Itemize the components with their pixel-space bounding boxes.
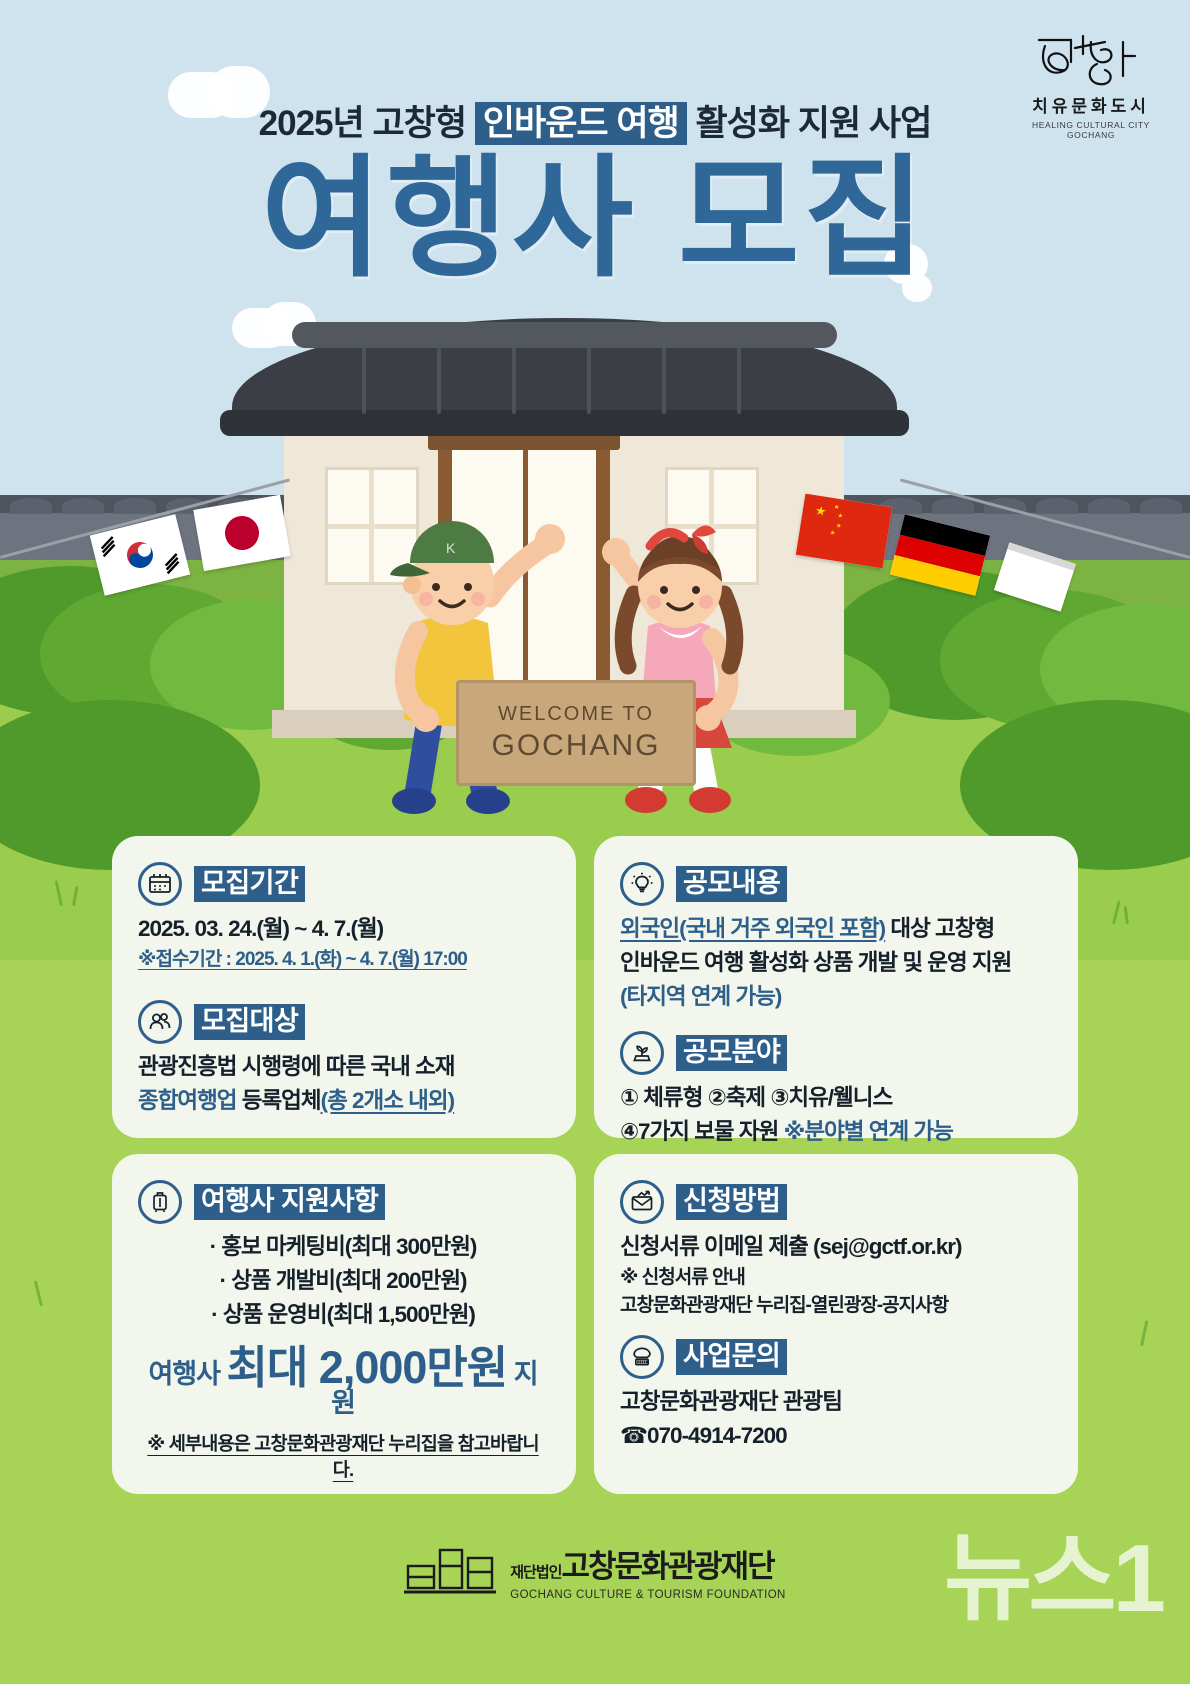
section-title-inquiry: 사업문의 xyxy=(676,1339,787,1375)
card-contest: 공모내용 외국인(국내 거주 외국인 포함) 대상 고창형 인바운드 여행 활성… xyxy=(594,836,1078,1138)
city-logo-english: HEALING CULTURAL CITY GOCHANG xyxy=(1016,120,1166,140)
support-item-0: · 홍보 마케팅비(최대 300만원) xyxy=(138,1230,548,1264)
welcome-sign-line2: GOCHANG xyxy=(491,729,660,763)
contest-content-line1-rest: 대상 고창형 xyxy=(885,916,994,941)
section-title-recruit-target: 모집대상 xyxy=(194,1004,305,1040)
subtitle-post: 활성화 지원 사업 xyxy=(687,104,932,143)
recruit-target-line2: 종합여행업 등록업체(총 2개소 내외) xyxy=(138,1084,548,1118)
foundation-name-line: 재단법인고창문화관광재단 xyxy=(510,1541,786,1586)
section-title-how-to-apply: 신청방법 xyxy=(676,1184,787,1220)
contest-content-line1: 외국인(국내 거주 외국인 포함) 대상 고창형 xyxy=(620,912,1050,946)
foundation-name-en: GOCHANG CULTURE & TOURISM FOUNDATION xyxy=(510,1589,786,1601)
recruit-target-line2-mid: 등록업체 xyxy=(237,1088,321,1113)
section-recruit-period: 모집기간 2025. 03. 24.(월) ~ 4. 7.(월) ※접수기간 :… xyxy=(138,862,548,974)
recruit-period-line2: ※접수기간 : 2025. 4. 1.(화) ~ 4. 7.(월) 17:00 xyxy=(138,946,548,975)
support-note: ※ 세부내용은 고창문화관광재단 누리집을 참고바랍니다. xyxy=(138,1430,548,1482)
recruit-target-line2-underline: (총 2개소 내외) xyxy=(321,1088,455,1113)
inquiry-line1: 고창문화관광재단 관광팀 xyxy=(620,1385,1050,1419)
contest-fields-line2-blue: ※분야별 연계 가능 xyxy=(784,1119,953,1144)
subtitle-highlight: 인바운드 여행 xyxy=(475,102,687,145)
city-brand-logo: 치유문화도시 HEALING CULTURAL CITY GOCHANG xyxy=(1016,28,1166,140)
support-item-2: · 상품 운영비(최대 1,500만원) xyxy=(138,1298,548,1332)
contest-content-line1-underline: 외국인(국내 거주 외국인 포함) xyxy=(620,916,885,941)
svg-text:K: K xyxy=(446,540,456,556)
foundation-text: 재단법인고창문화관광재단 GOCHANG CULTURE & TOURISM F… xyxy=(510,1541,786,1601)
city-logo-korean: 치유문화도시 xyxy=(1016,92,1166,117)
card-support: 여행사 지원사항 · 홍보 마케팅비(최대 300만원) · 상품 개발비(최대… xyxy=(112,1154,576,1494)
section-contest-content: 공모내용 외국인(국내 거주 외국인 포함) 대상 고창형 인바운드 여행 활성… xyxy=(620,862,1050,1013)
calendar-icon xyxy=(138,862,182,906)
suitcase-icon xyxy=(138,1180,182,1224)
foundation-name-small: 재단법인 xyxy=(510,1564,561,1581)
contest-content-line3: (타지역 연계 가능) xyxy=(620,980,1050,1014)
contest-content-line2: 인바운드 여행 활성화 상품 개발 및 운영 지원 xyxy=(620,946,1050,980)
section-title-contest-fields: 공모분야 xyxy=(676,1035,787,1071)
contest-fields-line2-black: ④7가지 보물 자원 xyxy=(620,1119,784,1144)
telephone-icon xyxy=(620,1335,664,1379)
contest-fields-line1: ① 체류형 ②축제 ③치유/웰니스 xyxy=(620,1081,1050,1115)
section-recruit-target: 모집대상 관광진흥법 시행령에 따른 국내 소재 종합여행업 등록업체(총 2개… xyxy=(138,1000,548,1118)
contest-fields-line2: ④7가지 보물 자원 ※분야별 연계 가능 xyxy=(620,1115,1050,1149)
recruit-target-line2-pre: 종합여행업 xyxy=(138,1088,237,1113)
gochang-script-logo-icon xyxy=(1031,28,1151,90)
inquiry-line2: ☎070-4914-7200 xyxy=(620,1419,1050,1453)
welcome-sign: WELCOME TO GOCHANG xyxy=(456,680,696,786)
section-support: 여행사 지원사항 · 홍보 마케팅비(최대 300만원) · 상품 개발비(최대… xyxy=(138,1180,548,1331)
footer-logo: 재단법인고창문화관광재단 GOCHANG CULTURE & TOURISM F… xyxy=(0,1540,1190,1602)
page-title: 여행사 모집 xyxy=(0,150,1190,289)
section-title-contest-content: 공모내용 xyxy=(676,866,787,902)
support-highlight-amount: 최대 2,000만원 xyxy=(226,1342,507,1393)
welcome-sign-line1: WELCOME TO xyxy=(498,703,654,726)
section-how-to-apply: 신청방법 신청서류 이메일 제출 (sej@gctf.or.kr) ※ 신청서류… xyxy=(620,1180,1050,1321)
support-highlight: 여행사 최대 2,000만원 지원 xyxy=(138,1345,548,1417)
sprout-icon xyxy=(620,1031,664,1075)
section-title-support: 여행사 지원사항 xyxy=(194,1184,385,1220)
apply-line1: 신청서류 이메일 제출 (sej@gctf.or.kr) xyxy=(620,1230,1050,1264)
subtitle-pre: 2025년 고창형 xyxy=(259,104,475,143)
mail-chart-icon xyxy=(620,1180,664,1224)
people-icon xyxy=(138,1000,182,1044)
section-inquiry: 사업문의 고창문화관광재단 관광팀 ☎070-4914-7200 xyxy=(620,1335,1050,1453)
apply-line2: ※ 신청서류 안내 xyxy=(620,1264,1050,1293)
support-highlight-pre: 여행사 xyxy=(148,1359,226,1389)
section-title-recruit-period: 모집기간 xyxy=(194,866,305,902)
card-apply: 신청방법 신청서류 이메일 제출 (sej@gctf.or.kr) ※ 신청서류… xyxy=(594,1154,1078,1494)
support-item-1: · 상품 개발비(최대 200만원) xyxy=(138,1264,548,1298)
card-recruit: 모집기간 2025. 03. 24.(월) ~ 4. 7.(월) ※접수기간 :… xyxy=(112,836,576,1138)
poster-subtitle: 2025년 고창형 인바운드 여행 활성화 지원 사업 xyxy=(0,95,1190,146)
section-contest-fields: 공모분야 ① 체류형 ②축제 ③치유/웰니스 ④7가지 보물 자원 ※분야별 연… xyxy=(620,1031,1050,1149)
lightbulb-icon xyxy=(620,862,664,906)
recruit-target-line1: 관광진흥법 시행령에 따른 국내 소재 xyxy=(138,1050,548,1084)
apply-line3: 고창문화관광재단 누리집-열린광장-공지사항 xyxy=(620,1292,1050,1321)
foundation-mark-icon xyxy=(404,1540,496,1602)
recruit-period-line1: 2025. 03. 24.(월) ~ 4. 7.(월) xyxy=(138,912,548,946)
foundation-name: 고창문화관광재단 xyxy=(561,1549,773,1584)
